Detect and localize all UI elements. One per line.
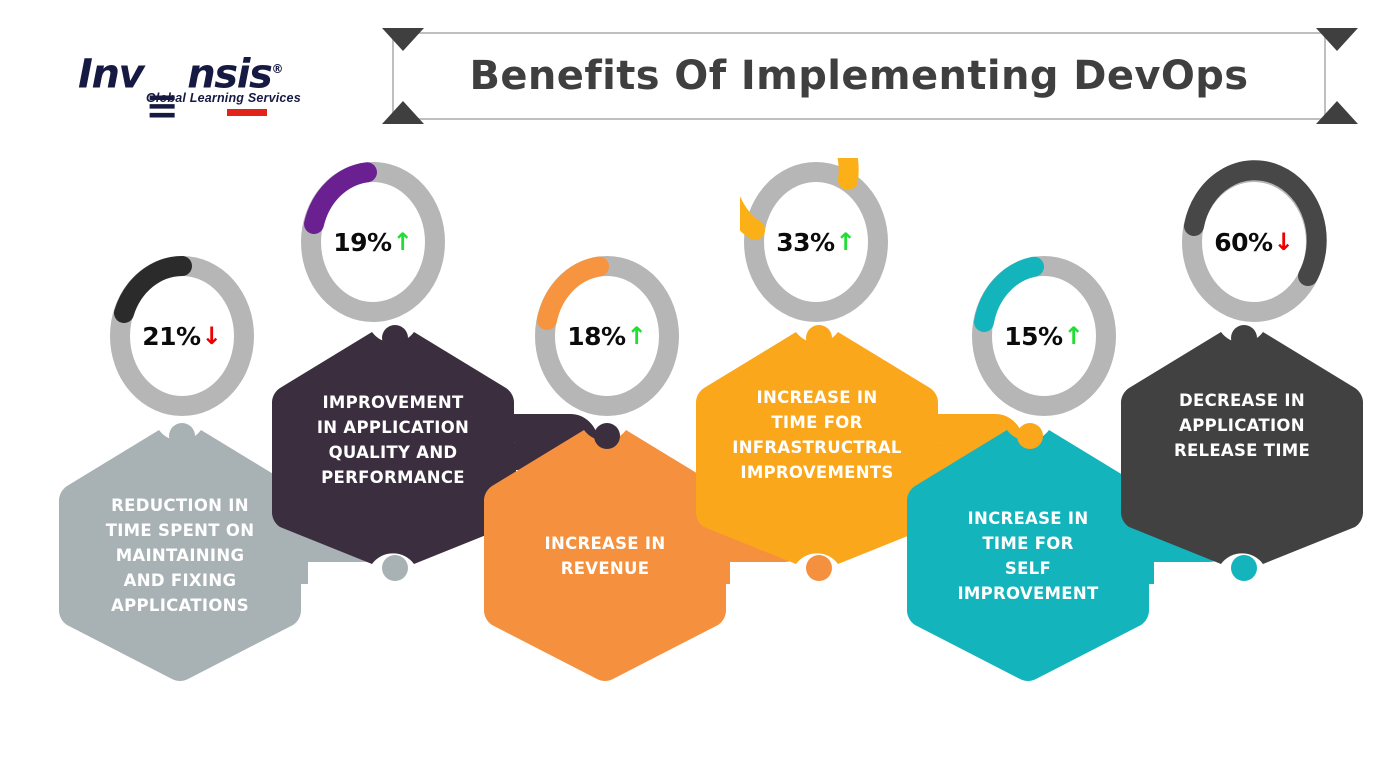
trend-up-arrow-icon-5: ↑ xyxy=(1064,325,1084,347)
donut-chart-4: 33% ↑ xyxy=(740,158,892,326)
trend-down-arrow-icon-1: ↓ xyxy=(202,325,222,347)
donut-value-3: 18% xyxy=(567,322,625,351)
logo-wordmark: Inv ≡ nsis® xyxy=(78,48,288,95)
page-title: Benefits Of Implementing DevOps xyxy=(394,34,1324,118)
donut-value-group-2: 19% ↑ xyxy=(297,158,449,326)
notch-dot-1 xyxy=(169,423,195,449)
trend-down-arrow-icon-6: ↓ xyxy=(1274,231,1294,253)
donut-value-4: 33% xyxy=(776,228,834,257)
notch-dot-2 xyxy=(382,555,408,581)
corner-triangle-top-right-icon xyxy=(1316,28,1358,51)
hexagon-card-5[interactable]: INCREASE IN TIME FOR SELF IMPROVEMENT xyxy=(903,428,1153,683)
donut-value-group-4: 33% ↑ xyxy=(740,158,892,326)
invensis-logo: Inv ≡ nsis® Global Learning Services xyxy=(78,48,288,110)
donut-value-group-6: 60% ↓ xyxy=(1178,158,1330,326)
donut-value-5: 15% xyxy=(1004,322,1062,351)
header: Inv ≡ nsis® Global Learning Services Ben… xyxy=(0,0,1395,150)
corner-triangle-bottom-right-icon xyxy=(1316,101,1358,124)
notch-dot-5 xyxy=(1017,423,1043,449)
donut-value-6: 60% xyxy=(1214,228,1272,257)
registered-mark: ® xyxy=(271,62,283,76)
trend-up-arrow-icon-3: ↑ xyxy=(627,325,647,347)
donut-chart-2: 19% ↑ xyxy=(297,158,449,326)
notch-dot-3 xyxy=(594,423,620,449)
infographic-canvas: Inv ≡ nsis® Global Learning Services Ben… xyxy=(0,0,1395,757)
donut-value-group-3: 18% ↑ xyxy=(531,252,683,420)
trend-up-arrow-icon-2: ↑ xyxy=(393,231,413,253)
corner-triangle-top-left-icon xyxy=(382,28,424,51)
logo-red-bar xyxy=(227,109,267,116)
logo-wordmark-part1: Inv xyxy=(78,51,143,97)
notch-dot-4 xyxy=(806,555,832,581)
notch-dot-6-top xyxy=(1231,325,1257,351)
notch-dot-2-top xyxy=(382,325,408,351)
donut-chart-5: 15% ↑ xyxy=(968,252,1120,420)
donut-value-2: 19% xyxy=(333,228,391,257)
notch-dot-6 xyxy=(1231,555,1257,581)
donut-chart-1: 21% ↓ xyxy=(106,252,258,420)
donut-chart-3: 18% ↑ xyxy=(531,252,683,420)
title-frame: Benefits Of Implementing DevOps xyxy=(392,32,1326,120)
donut-value-group-5: 15% ↑ xyxy=(968,252,1120,420)
trend-up-arrow-icon-4: ↑ xyxy=(836,231,856,253)
donut-value-1: 21% xyxy=(142,322,200,351)
logo-tagline: Global Learning Services xyxy=(146,91,301,105)
donut-value-group-1: 21% ↓ xyxy=(106,252,258,420)
hexagon-card-6[interactable]: DECREASE IN APPLICATION RELEASE TIME xyxy=(1117,330,1367,585)
corner-triangle-bottom-left-icon xyxy=(382,101,424,124)
notch-dot-4-top xyxy=(806,325,832,351)
donut-chart-6: 60% ↓ xyxy=(1178,158,1330,326)
